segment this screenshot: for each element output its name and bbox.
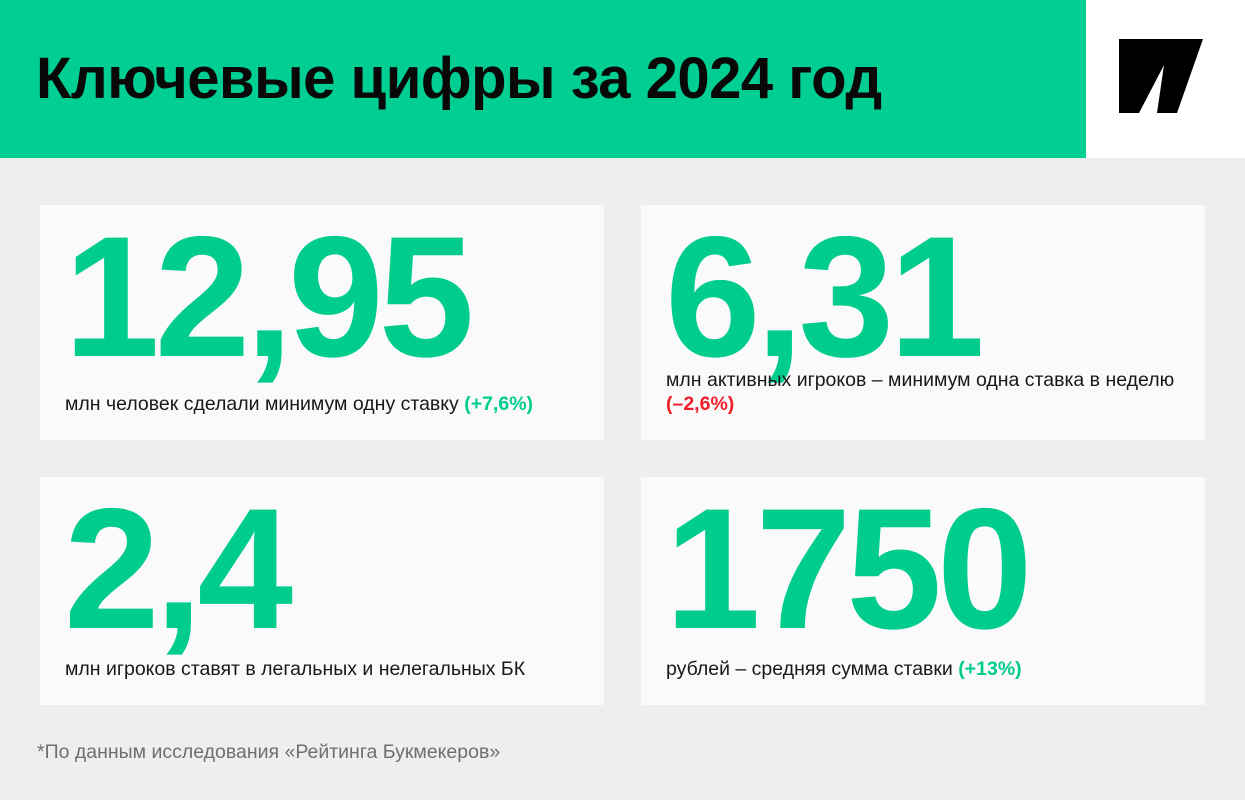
- source-footnote: *По данным исследования «Рейтинга Букмек…: [37, 740, 500, 764]
- stat-delta-badge: (+13%): [958, 658, 1021, 680]
- page-title: Ключевые цифры за 2024 год: [36, 44, 882, 114]
- stat-caption: млн игроков ставят в легальных и нелегал…: [65, 657, 525, 681]
- stat-card: 6,31 млн активных игроков – минимум одна…: [641, 205, 1205, 440]
- stat-caption: млн человек сделали минимум одну ставку …: [65, 392, 533, 416]
- stat-delta-badge: (–2,6%): [666, 393, 734, 415]
- stat-value: 2,4: [64, 494, 580, 644]
- stat-caption-text: млн активных игроков – минимум одна став…: [666, 369, 1174, 391]
- stat-caption: млн активных игроков – минимум одна став…: [666, 368, 1176, 416]
- stat-card: 2,4 млн игроков ставят в легальных и нел…: [40, 477, 604, 705]
- rb-logo-icon: [1117, 39, 1203, 113]
- stat-value: 12,95: [64, 222, 580, 372]
- infographic-root: Ключевые цифры за 2024 год 12,95 млн чел…: [0, 0, 1245, 800]
- header: Ключевые цифры за 2024 год: [0, 0, 1245, 158]
- stat-delta-badge: (+7,6%): [464, 393, 533, 415]
- stat-card: 12,95 млн человек сделали минимум одну с…: [40, 205, 604, 440]
- stat-value: 6,31: [665, 222, 1181, 372]
- stat-caption-text: рублей – средняя сумма ставки: [666, 658, 953, 680]
- stats-card-grid: 12,95 млн человек сделали минимум одну с…: [40, 205, 1205, 705]
- stat-caption: рублей – средняя сумма ставки (+13%): [666, 657, 1022, 681]
- stat-card: 1750 рублей – средняя сумма ставки (+13%…: [641, 477, 1205, 705]
- stat-caption-text: млн человек сделали минимум одну ставку: [65, 393, 459, 415]
- stat-caption-text: млн игроков ставят в легальных и нелегал…: [65, 658, 525, 680]
- stat-value: 1750: [665, 494, 1181, 644]
